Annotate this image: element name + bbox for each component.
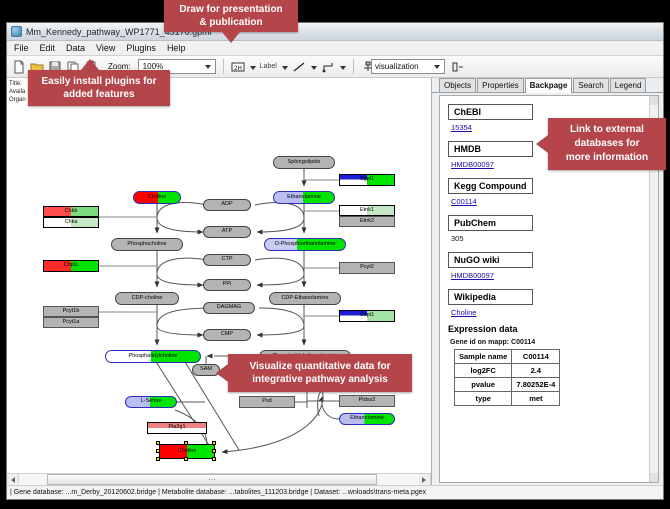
connector-tool-icon[interactable] xyxy=(321,60,335,74)
node-label: Sphingolipids xyxy=(288,160,321,166)
node-label: Chka xyxy=(65,220,78,226)
line-tool-icon[interactable] xyxy=(292,60,306,74)
menu-edit[interactable]: Edit xyxy=(39,43,57,53)
node-etnk1[interactable]: Etnk1 xyxy=(339,205,395,216)
cell-key: pvalue xyxy=(455,378,512,392)
cell-key: type xyxy=(455,392,512,406)
cell-value: met xyxy=(512,392,560,406)
links-callout-text: Link to external databases for more info… xyxy=(566,123,648,165)
scroll-thumb[interactable]: ⋯ xyxy=(47,474,377,485)
meta-title-label: Title: xyxy=(9,80,26,88)
horizontal-scrollbar[interactable]: ⋯ xyxy=(7,473,431,485)
visualization-combo[interactable]: visualization xyxy=(371,59,445,74)
new-file-icon[interactable] xyxy=(12,60,26,74)
menu-data[interactable]: Data xyxy=(65,43,86,53)
selection-handle-e[interactable] xyxy=(212,449,216,453)
chevron-down-icon xyxy=(203,60,213,73)
table-row: Sample name C00114 xyxy=(455,350,560,364)
expression-table: Sample name C00114 log2FC 2.4 pvalue 7.8… xyxy=(454,349,560,406)
node-pla2g1[interactable]: Pla2g1 xyxy=(147,422,207,434)
meta-organism-label: Organ xyxy=(9,96,26,104)
backpage-header-chebi: ChEBI xyxy=(448,104,533,120)
node-phosphocholine[interactable]: Phosphocholine xyxy=(111,238,183,251)
node-label: Chkb xyxy=(65,209,78,215)
toolbar-separator xyxy=(353,59,354,74)
node-label: Etnk1 xyxy=(360,208,374,214)
tab-legend[interactable]: Legend xyxy=(610,78,647,92)
backpage-link-wikipedia[interactable]: Choline xyxy=(451,308,658,317)
node-label: DAGMAG xyxy=(217,305,241,311)
node-chkb[interactable]: Chkb xyxy=(43,206,99,217)
app-icon xyxy=(11,26,22,37)
node-chka[interactable]: Chka xyxy=(43,217,99,228)
pathway-canvas[interactable]: Title: Availa Organ xyxy=(7,78,431,473)
node-label: CDP-Ethanolamine xyxy=(281,296,328,302)
chevron-down-icon xyxy=(432,60,442,73)
meta-available-label: Availa xyxy=(9,88,26,96)
chevron-down-icon[interactable] xyxy=(281,61,288,73)
node-label: Phosphatidylcholine xyxy=(129,354,178,360)
node-label: Choline xyxy=(148,195,167,201)
menu-file[interactable]: File xyxy=(13,43,30,53)
callout-pointer-left xyxy=(216,364,228,382)
node-pcyt1b[interactable]: Pcyt1b xyxy=(43,306,99,317)
node-ethanolamine-right[interactable]: Ethanolamine xyxy=(339,413,395,425)
scroll-track[interactable]: ⋯ xyxy=(19,474,419,485)
backpage-header-pubchem: PubChem xyxy=(448,215,533,231)
node-label: O-Phosphoethanolamine xyxy=(275,242,336,248)
node-cdp-choline[interactable]: CDP-choline xyxy=(115,292,179,305)
node-label: Pcyt1b xyxy=(63,309,80,315)
node-label: CTP xyxy=(222,257,233,263)
menu-bar: File Edit Data View Plugins Help xyxy=(7,41,663,56)
cell-value: 2.4 xyxy=(512,364,560,378)
node-label: Etnk2 xyxy=(360,219,374,225)
node-label: L-Serine xyxy=(141,399,162,405)
node-label: CMP xyxy=(221,332,233,338)
node-cept1[interactable]: Cept1 xyxy=(339,310,395,322)
selection-handle-n[interactable] xyxy=(184,441,188,445)
pathway-editor-pane: Title: Availa Organ xyxy=(7,78,432,485)
menu-help[interactable]: Help xyxy=(166,43,187,53)
node-ppi[interactable]: PPi xyxy=(203,279,251,291)
node-pcyt1a[interactable]: Pcyt1a xyxy=(43,317,99,328)
node-chpt1[interactable]: Chpt1 xyxy=(43,260,99,272)
node-cmp[interactable]: CMP xyxy=(203,329,251,341)
node-label: Pcyt2 xyxy=(360,265,374,271)
backpage-link-kegg[interactable]: C00114 xyxy=(451,197,658,206)
callout-pointer-left xyxy=(536,135,548,153)
node-label: Ethanolamine xyxy=(350,416,384,422)
node-label: Psd xyxy=(262,399,271,405)
cell-key: log2FC xyxy=(455,364,512,378)
node-label: ADP xyxy=(221,202,232,208)
node-ptdss2[interactable]: Ptdss2 xyxy=(339,395,395,407)
node-label: Ptdss2 xyxy=(359,398,376,404)
menu-view[interactable]: View xyxy=(95,43,116,53)
node-label: Cept1 xyxy=(360,313,375,319)
scroll-right-icon[interactable] xyxy=(419,474,431,485)
side-panel-tabs: Objects Properties Backpage Search Legen… xyxy=(432,78,663,93)
node-label: SAM xyxy=(200,367,212,373)
chevron-down-icon[interactable] xyxy=(310,61,317,73)
cell-key: Sample name xyxy=(455,350,512,364)
node-pcyt2[interactable]: Pcyt2 xyxy=(339,262,395,274)
text-tool-icon[interactable]: 2H xyxy=(231,60,245,74)
cell-value: C00114 xyxy=(512,350,560,364)
node-dagmag[interactable]: DAGMAG xyxy=(203,302,255,314)
expression-data-title: Expression data xyxy=(448,324,658,334)
tab-objects[interactable]: Objects xyxy=(439,78,476,92)
selection-handle-ne[interactable] xyxy=(212,441,216,445)
node-label: Ethanolamine xyxy=(287,195,321,201)
selection-handle-nw[interactable] xyxy=(156,441,160,445)
node-ctp[interactable]: CTP xyxy=(203,254,251,266)
callout-pointer-down xyxy=(222,32,240,43)
cell-value: 7.80252E-4 xyxy=(512,378,560,392)
node-phosphatidylcholine[interactable]: Phosphatidylcholine xyxy=(105,350,201,363)
scroll-down-icon[interactable] xyxy=(650,473,659,482)
node-etnk2[interactable]: Etnk2 xyxy=(339,216,395,227)
selection-handle-sw[interactable] xyxy=(156,457,160,461)
links-callout: Link to external databases for more info… xyxy=(548,118,666,170)
backpage-header-nugo: NuGO wiki xyxy=(448,252,533,268)
node-choline-top[interactable]: Choline xyxy=(133,191,181,204)
table-row: pvalue 7.80252E-4 xyxy=(455,378,560,392)
visualize-callout-text: Visualize quantitative data for integrat… xyxy=(250,360,391,386)
node-label: Sgpl1 xyxy=(360,177,374,183)
scroll-left-icon[interactable] xyxy=(7,474,19,485)
node-label: Chpt1 xyxy=(64,263,79,269)
node-sgpl1[interactable]: Sgpl1 xyxy=(339,174,395,186)
gene-id-note: Gene id on mapp: C00114 xyxy=(450,339,658,346)
backpage-header-kegg: Kegg Compound xyxy=(448,178,533,194)
backpage-header-wikipedia: Wikipedia xyxy=(448,289,533,305)
order-icon[interactable] xyxy=(451,60,465,74)
backpage-header-hmdb: HMDB xyxy=(448,141,533,157)
selection-handle-w[interactable] xyxy=(156,449,160,453)
pathway-meta-labels: Title: Availa Organ xyxy=(9,80,26,104)
node-label: Phosphocholine xyxy=(127,242,166,248)
node-l-serine-left[interactable]: L-Serine xyxy=(125,396,177,408)
node-o-phosphoethanolamine[interactable]: O-Phosphoethanolamine xyxy=(264,238,346,251)
tab-backpage[interactable]: Backpage xyxy=(525,78,573,93)
draw-callout: Draw for presentation & publication xyxy=(164,0,298,32)
node-label: Pla2g1 xyxy=(168,425,185,431)
node-label: Pcyt1a xyxy=(63,320,80,326)
node-ethanolamine[interactable]: Ethanolamine xyxy=(273,191,335,204)
visualization-value: visualization xyxy=(375,62,419,71)
chevron-down-icon[interactable] xyxy=(339,61,346,73)
plugins-callout: Easily install plugins for added feature… xyxy=(28,70,170,106)
backpage-link-nugo[interactable]: HMDB00097 xyxy=(451,271,658,280)
chevron-down-icon[interactable] xyxy=(249,61,256,73)
node-label: CDP-choline xyxy=(132,296,163,302)
node-cdp-ethanolamine[interactable]: CDP-Ethanolamine xyxy=(269,292,341,305)
table-row: type met xyxy=(455,392,560,406)
node-label: ATP xyxy=(222,229,232,235)
table-row: log2FC 2.4 xyxy=(455,364,560,378)
selection-handle-s[interactable] xyxy=(184,457,188,461)
toolbar-separator xyxy=(223,59,224,74)
scroll-up-icon[interactable] xyxy=(650,96,659,105)
visualize-callout: Visualize quantitative data for integrat… xyxy=(228,354,412,392)
node-atp[interactable]: ATP xyxy=(203,226,251,238)
node-label: Choline xyxy=(178,449,197,455)
node-label: PPi xyxy=(223,282,232,288)
status-bar: | Gene database: ...m_Derby_20120602.bri… xyxy=(7,485,663,499)
plugins-callout-text: Easily install plugins for added feature… xyxy=(41,75,156,101)
draw-callout-text: Draw for presentation & publication xyxy=(179,3,282,29)
svg-text:2H: 2H xyxy=(234,66,242,72)
tab-properties[interactable]: Properties xyxy=(477,78,523,92)
title-bar: Mm_Kennedy_pathway_WP1771_45176.gpml xyxy=(7,23,663,41)
menu-plugins[interactable]: Plugins xyxy=(125,43,157,53)
node-psd[interactable]: Psd xyxy=(239,396,295,408)
node-sphingolipids[interactable]: Sphingolipids xyxy=(273,156,335,169)
selection-handle-se[interactable] xyxy=(212,457,216,461)
tab-search[interactable]: Search xyxy=(573,78,608,92)
callout-pointer-up xyxy=(81,59,99,70)
node-adp[interactable]: ADP xyxy=(203,199,251,211)
label-tool-label[interactable]: Label xyxy=(260,63,277,70)
backpage-value-pubchem: 305 xyxy=(451,234,658,243)
